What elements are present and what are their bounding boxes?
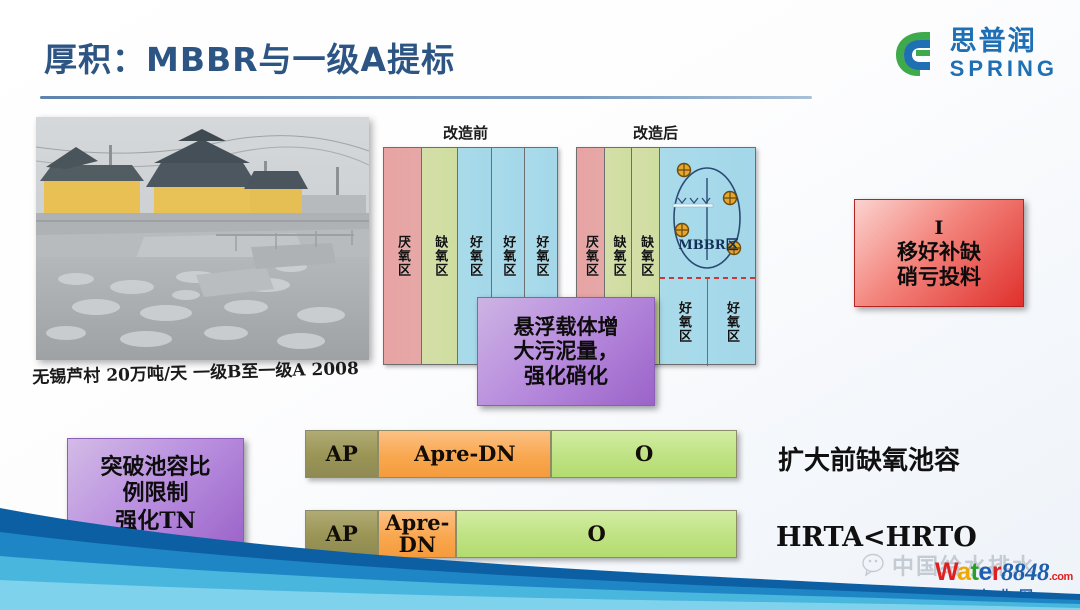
redbox-line-1: 移好补缺 bbox=[897, 240, 981, 265]
zone-label: 厌氧区 bbox=[393, 235, 412, 277]
water-dot-com: .com bbox=[1049, 571, 1073, 583]
purplebox-line-3-en: TN bbox=[159, 508, 195, 534]
process-bar-row-2: AP Apre-DN O bbox=[305, 510, 737, 558]
zone-label: 好氧区 bbox=[498, 235, 517, 277]
purplebox-line-2: 例限制 bbox=[122, 481, 188, 507]
bar-segment-o: O bbox=[551, 430, 737, 478]
diagram-label-before: 改造前 bbox=[443, 122, 488, 143]
water-letter-t: t bbox=[971, 558, 979, 586]
zone-label: 缺氧区 bbox=[609, 235, 628, 277]
callout-line-3: 强化硝化 bbox=[524, 364, 608, 388]
highlight-box-red: I 移好补缺 硝亏投料 bbox=[854, 199, 1024, 307]
brand-logo: 思普润 SPRING bbox=[890, 28, 1058, 80]
purplebox-line-1: 突破池容比 bbox=[100, 455, 210, 481]
redbox-line-2: 硝亏投料 bbox=[897, 265, 981, 290]
zone-anoxic: 缺氧区 bbox=[422, 148, 458, 364]
wechat-icon bbox=[862, 553, 888, 577]
watermark-water8848-wordmark: Water8848.com bbox=[935, 560, 1073, 585]
title-underline bbox=[40, 96, 812, 99]
zone-aerobic-1: 好氧区 bbox=[660, 278, 708, 366]
plant-photo-image bbox=[36, 117, 369, 360]
zone-label: 好氧区 bbox=[531, 235, 550, 277]
process-bar-row-1: AP Apre-DN O bbox=[305, 430, 737, 478]
purplebox-line-3-cn: 强化 bbox=[115, 509, 159, 534]
page-title: 厚积：MBBR与一级A提标 bbox=[44, 33, 455, 81]
purplebox-line-3: 强化TN bbox=[115, 508, 196, 535]
zone-mbbr: MBBR区 好氧区 好氧区 bbox=[660, 148, 755, 364]
bar-segment-o: O bbox=[456, 510, 737, 558]
callout-box: 悬浮载体增 大污泥量， 强化硝化 bbox=[477, 297, 655, 406]
watermark-gswps-text: 中国给水排水 bbox=[892, 549, 1036, 581]
zone-label: 缺氧区 bbox=[636, 235, 655, 277]
diagram-label-after: 改造后 bbox=[633, 122, 678, 143]
water-letter-e: e bbox=[978, 558, 991, 586]
logo-chinese-name: 思普润 bbox=[950, 28, 1058, 55]
mbbr-sub-zones: 好氧区 好氧区 bbox=[660, 278, 755, 366]
watermark-gswps: 中国给水排水 bbox=[862, 549, 1036, 581]
zone-aerobic-2: 好氧区 bbox=[708, 278, 755, 366]
redbox-roman-numeral: I bbox=[935, 217, 944, 239]
watermark-water8848-cn: 中国水业网 bbox=[935, 586, 1073, 606]
water-letter-w: W bbox=[935, 558, 957, 586]
mbbr-zone-label: MBBR区 bbox=[666, 234, 751, 253]
bar-segment-ap: AP bbox=[305, 430, 378, 478]
water-number: 8848 bbox=[1001, 559, 1049, 586]
zone-anaerobic: 厌氧区 bbox=[384, 148, 422, 364]
zone-label: 好氧区 bbox=[674, 301, 693, 343]
watermark-water8848: Water8848.com 中国水业网 bbox=[935, 560, 1073, 606]
water-letter-r: r bbox=[992, 558, 1001, 586]
plant-photo bbox=[36, 117, 369, 360]
callout-line-1: 悬浮载体增 bbox=[514, 315, 619, 339]
logo-english-name: SPRING bbox=[950, 58, 1058, 80]
water-letter-a: a bbox=[957, 558, 970, 586]
zone-label: 好氧区 bbox=[722, 301, 741, 343]
side-note-1: 扩大前缺氧池容 bbox=[778, 440, 960, 477]
slide-canvas: 厚积：MBBR与一级A提标 思普润 SPRING bbox=[0, 0, 1080, 610]
bar-segment-apre-dn: Apre-DN bbox=[378, 510, 456, 558]
highlight-box-purple: 突破池容比 例限制 强化TN bbox=[67, 438, 244, 552]
zone-label: 好氧区 bbox=[465, 235, 484, 277]
spring-logo-icon bbox=[890, 28, 942, 80]
bar-segment-apre-dn: Apre-DN bbox=[378, 430, 551, 478]
callout-line-2: 大污泥量， bbox=[514, 339, 619, 363]
side-note-2: HRTA<HRTO bbox=[776, 522, 977, 553]
zone-label: 厌氧区 bbox=[581, 235, 600, 277]
bar-segment-ap: AP bbox=[305, 510, 378, 558]
zone-label: 缺氧区 bbox=[430, 235, 449, 277]
